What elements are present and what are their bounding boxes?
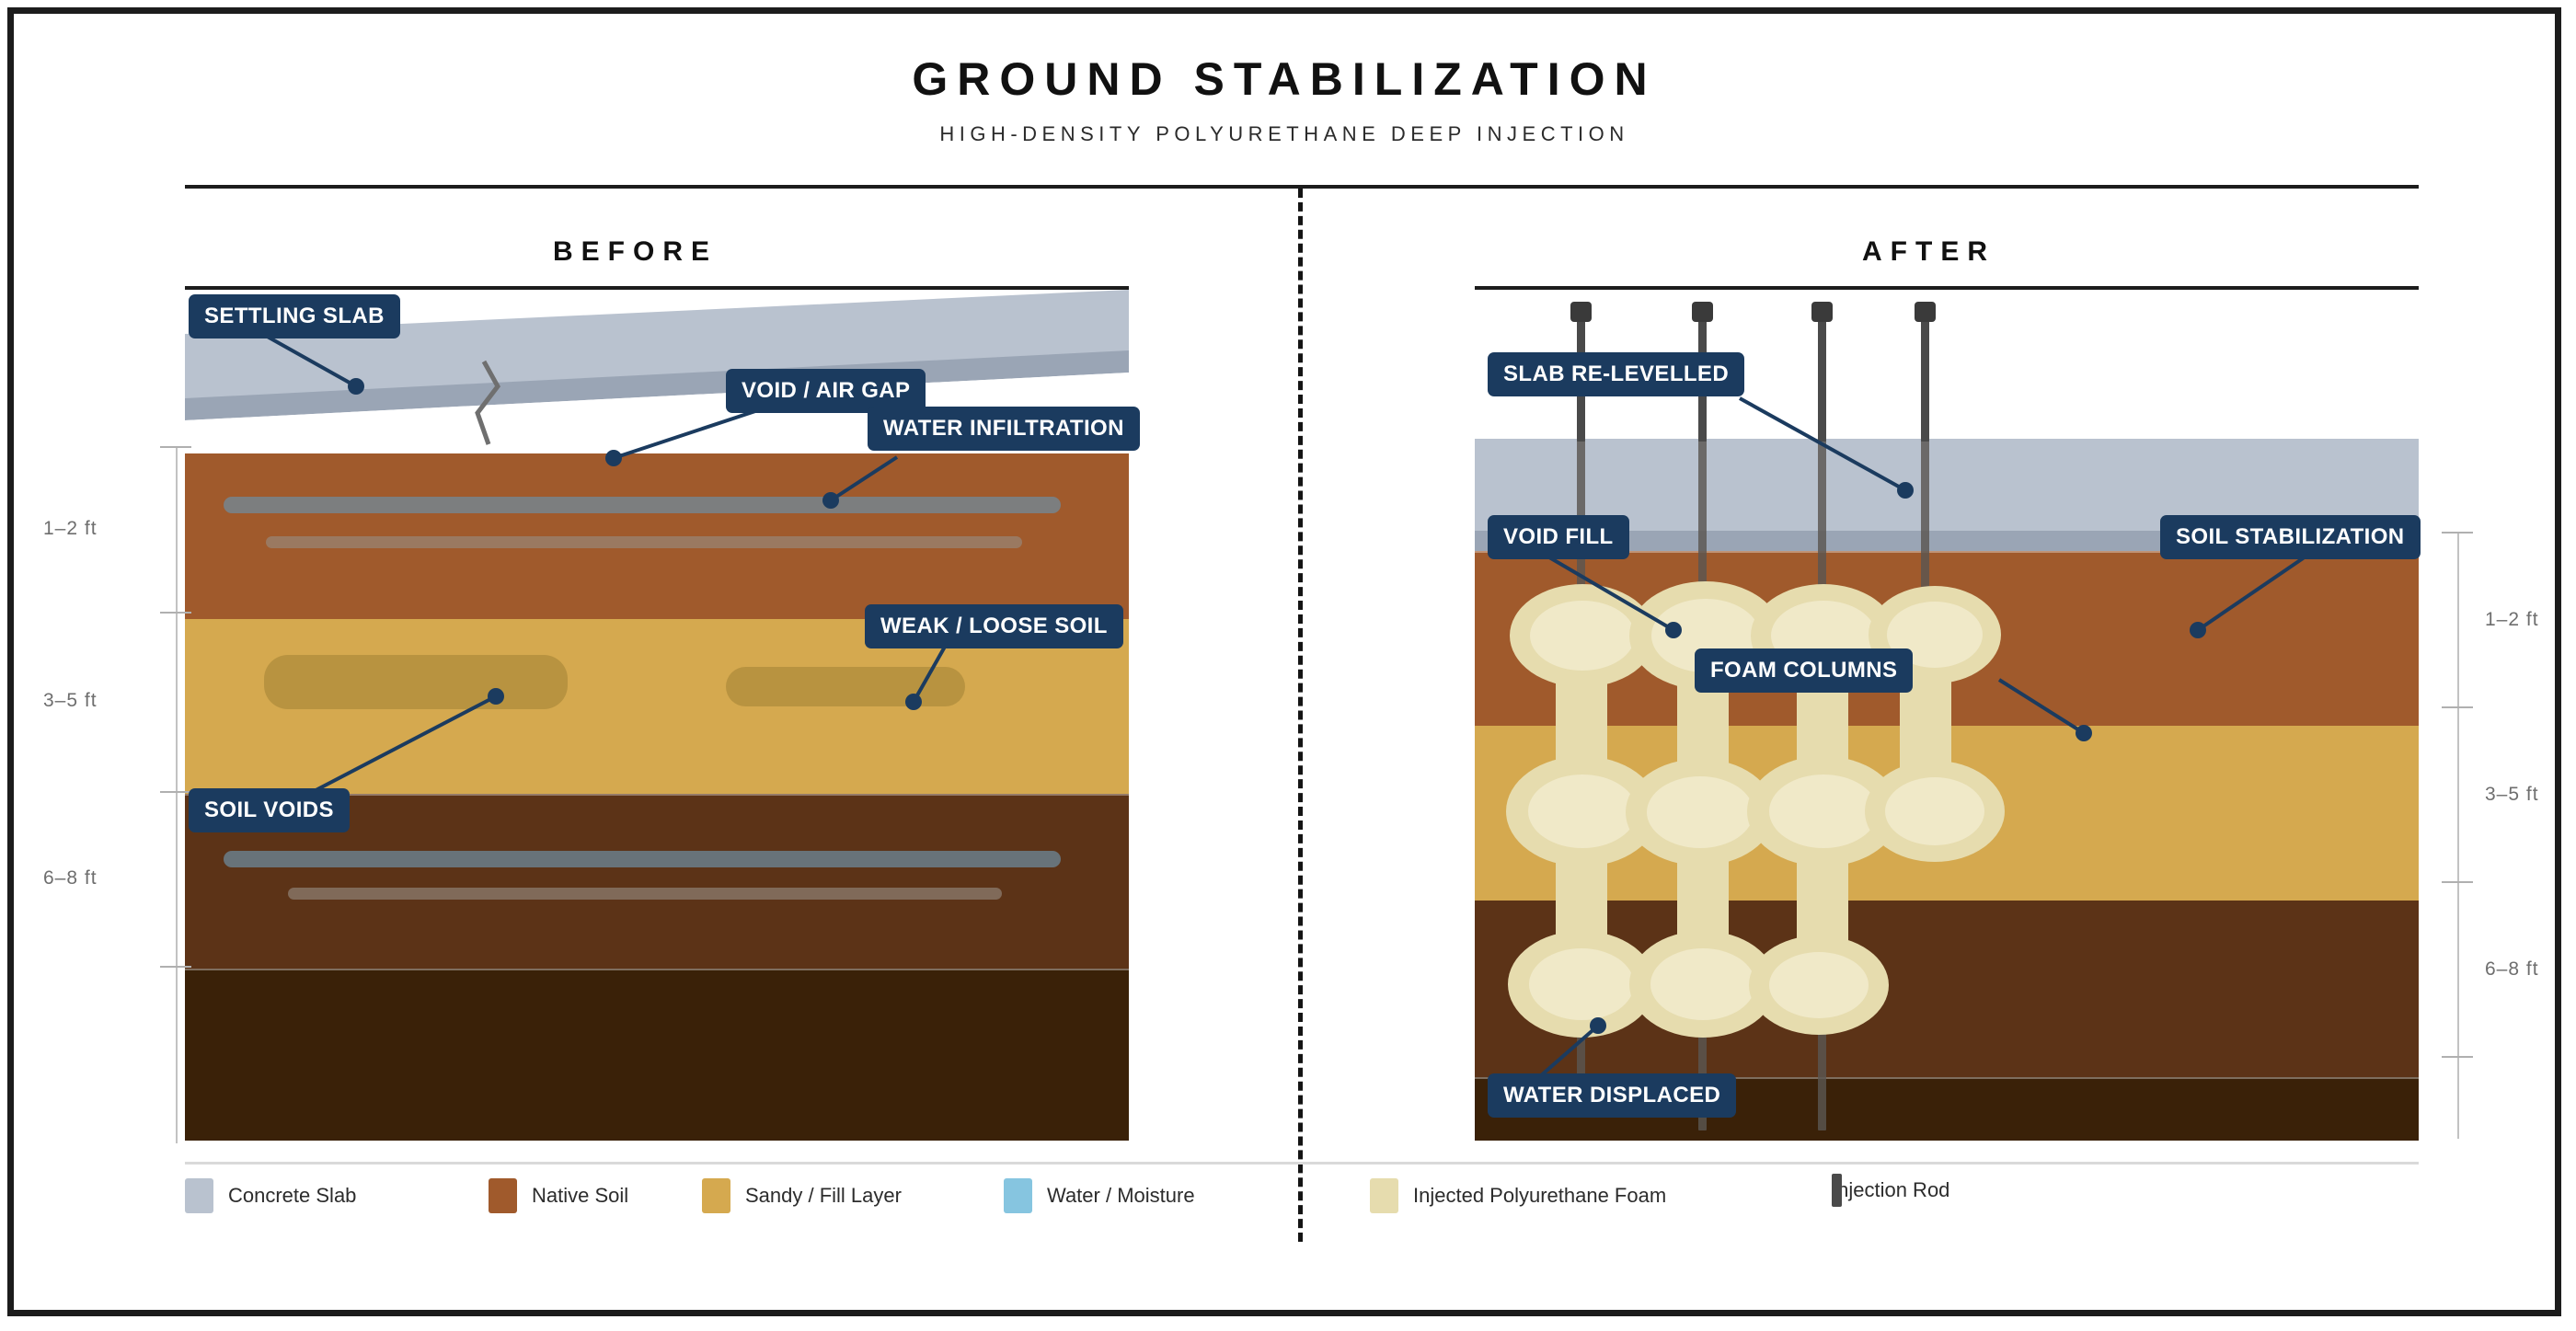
soil-void-pocket: [726, 667, 965, 706]
legend-swatch-injection-rod: [1832, 1174, 1842, 1207]
foam-bulb: [1865, 761, 2005, 862]
panel-title-before: BEFORE: [553, 236, 718, 268]
legend-label: Water / Moisture: [1047, 1184, 1195, 1208]
injection-rod-cap[interactable]: [1915, 302, 1936, 322]
foam-core: [1769, 775, 1878, 848]
scale-label: 1–2 ft: [43, 518, 98, 540]
injection-rod-cap[interactable]: [1811, 302, 1833, 322]
scale-tick: [2442, 706, 2473, 708]
callout-slab-re-levelled[interactable]: SLAB RE-LEVELLED: [1488, 352, 1744, 396]
foam-core: [1769, 952, 1869, 1018]
foam-core: [1650, 948, 1755, 1020]
legend-item: Native Soil: [489, 1178, 628, 1213]
scale-label: 3–5 ft: [43, 690, 98, 712]
legend-swatch-sandy-fill-layer: [702, 1178, 730, 1213]
injection-rod[interactable]: [1921, 317, 1929, 442]
scale-tick: [160, 791, 191, 793]
water-band: [266, 536, 1022, 548]
foam-core: [1529, 948, 1634, 1020]
before-layer-deepest: [185, 969, 1129, 1141]
scale-tick: [160, 446, 191, 448]
callout-soil-stabilization[interactable]: SOIL STABILIZATION: [2160, 515, 2421, 559]
scale-axis: [176, 446, 178, 1143]
foam-core: [1530, 601, 1635, 671]
callout-soil-voids[interactable]: SOIL VOIDS: [189, 788, 350, 832]
scale-tick: [160, 966, 191, 968]
legend-swatch-water-moisture: [1004, 1178, 1032, 1213]
water-band: [224, 497, 1061, 513]
legend-swatch-native-soil: [489, 1178, 517, 1213]
after-depth-scale: 1–2 ft 3–5 ft 6–8 ft: [2424, 524, 2576, 1150]
scale-label: 6–8 ft: [2485, 958, 2539, 981]
scale-tick: [2442, 1056, 2473, 1058]
legend-swatch-concrete-slab: [185, 1178, 213, 1213]
callout-foam-columns[interactable]: FOAM COLUMNS: [1695, 648, 1913, 693]
scale-tick: [2442, 881, 2473, 883]
before-layer-native: [185, 446, 1129, 619]
callout-weak-loose-soil[interactable]: WEAK / LOOSE SOIL: [865, 604, 1123, 648]
legend-item: Injected Polyurethane Foam: [1370, 1178, 1666, 1213]
legend-label: Sandy / Fill Layer: [745, 1184, 902, 1208]
poster-stage: GROUND STABILIZATION HIGH-DENSITY POLYUR…: [14, 14, 2555, 1310]
legend: Concrete Slab Native Soil Sandy / Fill L…: [185, 1175, 2419, 1219]
water-band: [224, 851, 1061, 867]
scale-axis: [2457, 532, 2459, 1139]
callout-void-fill[interactable]: VOID FILL: [1488, 515, 1629, 559]
page-subtitle: HIGH-DENSITY POLYURETHANE DEEP INJECTION: [14, 122, 2555, 146]
legend-item: Concrete Slab: [185, 1178, 356, 1213]
page-title: GROUND STABILIZATION: [14, 52, 2555, 106]
scale-tick: [160, 612, 191, 614]
foam-bulb: [1749, 935, 1889, 1035]
scale-label: 6–8 ft: [43, 867, 98, 889]
injection-rod-cap[interactable]: [1692, 302, 1713, 322]
panel-divider: [1298, 189, 1303, 1242]
soil-void-pocket: [264, 655, 568, 709]
legend-label: Native Soil: [532, 1184, 628, 1208]
injection-rod-cap[interactable]: [1570, 302, 1592, 322]
foam-core: [1528, 775, 1637, 848]
panel-title-after: AFTER: [1862, 236, 1995, 268]
legend-label: Concrete Slab: [228, 1184, 356, 1208]
legend-rule: [185, 1162, 2419, 1165]
scale-tick: [2442, 532, 2473, 534]
foam-core: [1647, 776, 1754, 848]
legend-item: Sandy / Fill Layer: [702, 1178, 902, 1213]
legend-label: Injected Polyurethane Foam: [1413, 1184, 1666, 1208]
scale-label: 1–2 ft: [2485, 609, 2539, 631]
callout-water-displaced[interactable]: WATER DISPLACED: [1488, 1073, 1736, 1118]
scale-label: 3–5 ft: [2485, 784, 2539, 806]
panel-rule-after: [1475, 286, 2419, 290]
water-band: [288, 888, 1002, 900]
injection-rod[interactable]: [1818, 317, 1826, 442]
legend-item: Water / Moisture: [1004, 1178, 1195, 1213]
callout-settling-slab[interactable]: SETTLING SLAB: [189, 294, 400, 338]
legend-item: Injection Rod: [1832, 1178, 1949, 1202]
legend-swatch-injected-polyurethane-foam: [1370, 1178, 1398, 1213]
legend-label: Injection Rod: [1832, 1178, 1949, 1202]
callout-water-infiltration[interactable]: WATER INFILTRATION: [868, 407, 1140, 451]
poster-frame: GROUND STABILIZATION HIGH-DENSITY POLYUR…: [7, 7, 2561, 1316]
foam-core: [1885, 777, 1984, 845]
before-depth-scale: 1–2 ft 3–5 ft 6–8 ft: [122, 437, 196, 1145]
layer-hairline: [185, 969, 1129, 970]
